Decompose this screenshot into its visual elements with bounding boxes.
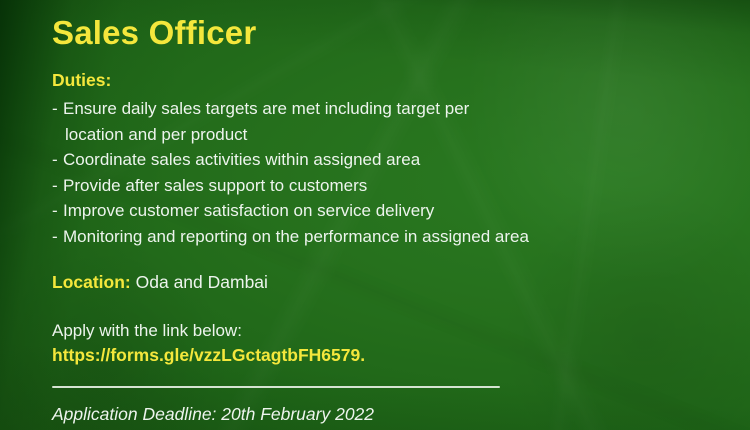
duty-continuation: location and per product — [52, 122, 712, 148]
page-title: Sales Officer — [52, 14, 256, 53]
duty-text: Improve customer satisfaction on service… — [63, 201, 434, 220]
bullet-dash: - — [52, 173, 63, 199]
duty-text: Provide after sales support to customers — [63, 176, 367, 195]
job-posting-slide: Sales Officer Duties: -Ensure daily sale… — [0, 0, 750, 430]
application-form-link[interactable]: https://forms.gle/vzzLGctagtbFH6579. — [52, 345, 365, 367]
poster-content: Sales Officer Duties: -Ensure daily sale… — [0, 0, 750, 430]
duties-heading: Duties: — [52, 70, 111, 91]
bullet-dash: - — [52, 198, 63, 224]
duty-text: Ensure daily sales targets are met inclu… — [63, 99, 469, 118]
apply-instruction: Apply with the link below: — [52, 320, 242, 341]
list-item: -Ensure daily sales targets are met incl… — [52, 96, 712, 122]
duties-list: -Ensure daily sales targets are met incl… — [52, 96, 712, 249]
duty-text: Monitoring and reporting on the performa… — [63, 227, 529, 246]
list-item: -Monitoring and reporting on the perform… — [52, 224, 712, 250]
bullet-dash: - — [52, 224, 63, 250]
application-deadline: Application Deadline: 20th February 2022 — [52, 403, 374, 426]
location-value: Oda and Dambai — [136, 272, 268, 292]
bullet-dash: - — [52, 96, 63, 122]
location-label: Location: — [52, 272, 131, 292]
list-item: -Coordinate sales activities within assi… — [52, 147, 712, 173]
location-line: Location: Oda and Dambai — [52, 272, 268, 294]
list-item: -Provide after sales support to customer… — [52, 173, 712, 199]
list-item: -Improve customer satisfaction on servic… — [52, 198, 712, 224]
duty-text: Coordinate sales activities within assig… — [63, 150, 420, 169]
bullet-dash: - — [52, 147, 63, 173]
horizontal-divider — [52, 386, 500, 388]
